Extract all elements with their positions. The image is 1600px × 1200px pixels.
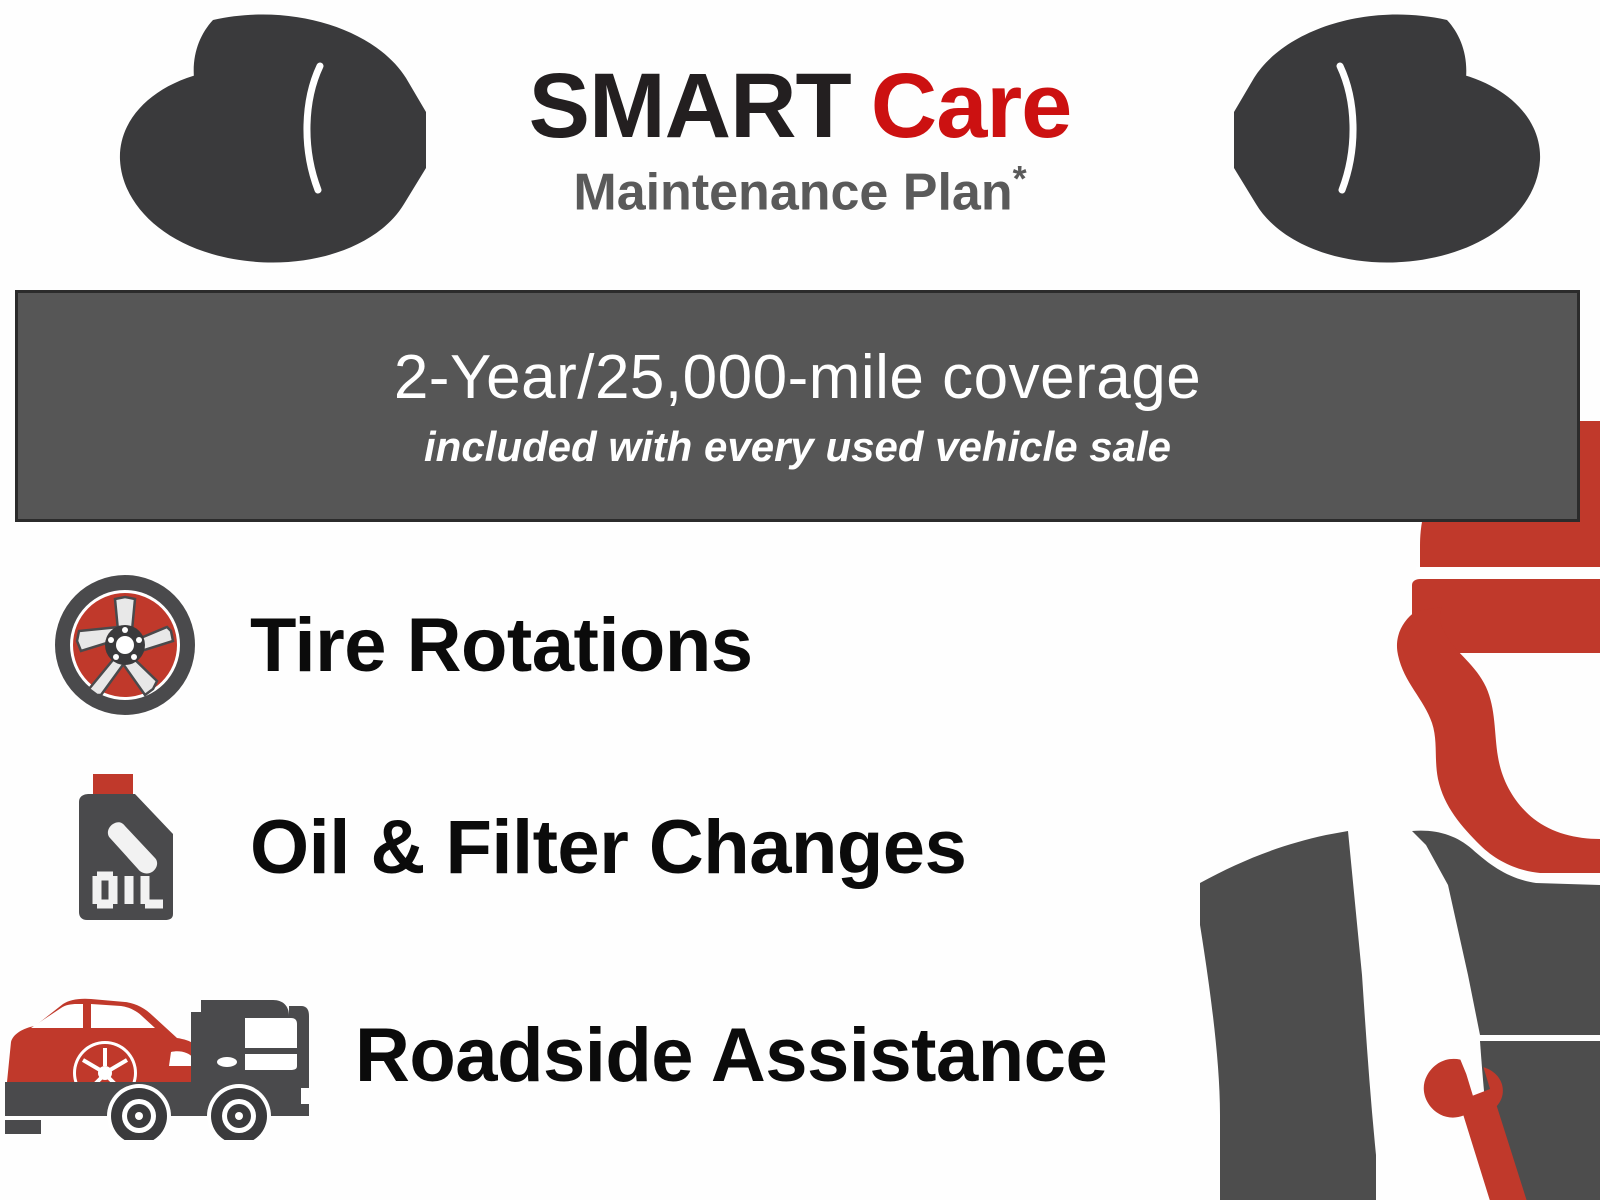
coverage-subline: included with every used vehicle sale [424, 423, 1171, 471]
feature-list: Tire Rotations Oil & Filter Changes [0, 555, 1180, 1145]
logo-text-block: SMARTCare Maintenance Plan* [0, 58, 1600, 221]
tow-truck-icon [5, 970, 325, 1140]
tow-truck-icon-wrapper [0, 970, 330, 1140]
logo-header: SMARTCare Maintenance Plan* [0, 0, 1600, 278]
feature-label-oil-filter-changes: Oil & Filter Changes [250, 804, 966, 891]
tire-icon-wrapper [0, 569, 250, 721]
brand-name-secondary: Care [871, 55, 1072, 157]
mechanic-with-wrench-illustration [1180, 415, 1600, 1200]
mechanic-overalls-left [1200, 831, 1376, 1200]
coverage-banner: 2-Year/25,000-mile coverage included wit… [15, 290, 1580, 522]
feature-item-tire-rotations: Tire Rotations [0, 555, 1180, 735]
smart-care-maintenance-plan-poster: SMARTCare Maintenance Plan* 2-Year/25,00… [0, 0, 1600, 1200]
oil-bottle-icon [69, 772, 181, 922]
feature-label-roadside-assistance: Roadside Assistance [355, 1012, 1107, 1099]
logo-subtitle: Maintenance Plan* [0, 159, 1600, 222]
brand-name-primary: SMART [529, 55, 851, 157]
brand-title: SMARTCare [0, 58, 1600, 155]
coverage-headline: 2-Year/25,000-mile coverage [394, 342, 1201, 413]
feature-item-oil-filter-changes: Oil & Filter Changes [0, 757, 1180, 937]
tire-icon [49, 569, 201, 721]
feature-label-tire-rotations: Tire Rotations [250, 602, 753, 689]
feature-item-roadside-assistance: Roadside Assistance [0, 965, 1180, 1145]
logo-subtitle-text: Maintenance Plan [573, 163, 1012, 221]
asterisk-marker: * [1013, 158, 1027, 199]
oil-bottle-icon-wrapper [0, 772, 250, 922]
